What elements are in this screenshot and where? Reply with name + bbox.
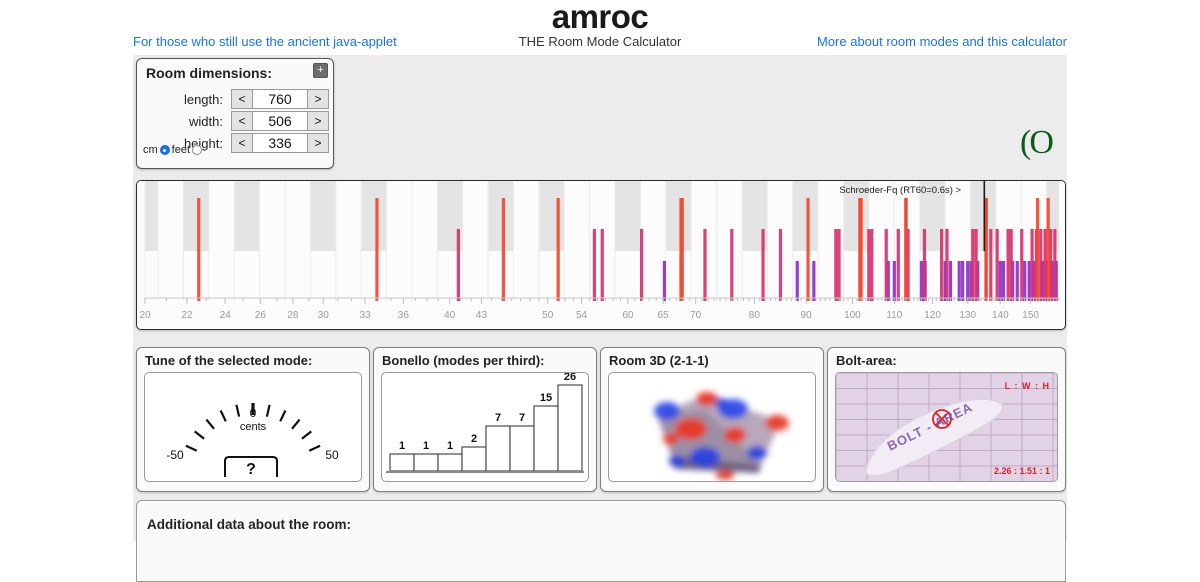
unit-feet-label: feet	[172, 144, 190, 156]
svg-text:15: 15	[540, 392, 552, 404]
svg-text:2.26 : 1.51 : 1: 2.26 : 1.51 : 1	[994, 466, 1050, 476]
svg-text:2: 2	[471, 433, 477, 445]
additional-data-panel: Additional data about the room:	[136, 500, 1066, 582]
room3d-panel-title: Room 3D (2-1-1)	[609, 353, 709, 368]
svg-text:0: 0	[250, 406, 257, 420]
svg-text:50: 50	[325, 448, 339, 462]
height-value[interactable]: 336	[253, 133, 307, 153]
length-decrement-button[interactable]: <	[231, 89, 253, 109]
svg-text:110: 110	[886, 310, 902, 321]
length-value[interactable]: 760	[253, 89, 307, 109]
svg-text:36: 36	[398, 310, 410, 321]
svg-text:90: 90	[801, 310, 813, 321]
length-increment-button[interactable]: >	[307, 89, 329, 109]
width-value[interactable]: 506	[253, 111, 307, 131]
height-decrement-button[interactable]: <	[231, 133, 253, 153]
tune-meter[interactable]: 0cents-5050?	[144, 372, 362, 482]
bolt-area-panel-title: Bolt-area:	[836, 353, 897, 368]
tune-panel: Tune of the selected mode: 0cents-5050?	[136, 347, 370, 492]
svg-text:43: 43	[476, 310, 488, 321]
dimension-row-length: length: < 760 >	[137, 89, 333, 111]
unit-selector: cm feet	[143, 144, 202, 156]
page-header: amroc THE Room Mode Calculator For those…	[0, 0, 1200, 55]
svg-text:1: 1	[447, 440, 453, 452]
mode-plot-area[interactable]	[137, 181, 1065, 301]
svg-text:54: 54	[576, 310, 588, 321]
room-dimensions-panel: Room dimensions: + length: < 760 > width…	[136, 58, 334, 169]
svg-text:40: 40	[444, 310, 456, 321]
java-applet-link[interactable]: For those who still use the ancient java…	[133, 34, 397, 49]
svg-text:130: 130	[959, 310, 976, 321]
unit-feet-radio[interactable]	[192, 145, 202, 155]
svg-text:140: 140	[992, 310, 1009, 321]
svg-text:33: 33	[360, 310, 372, 321]
frequency-axis: 2022242628303336404350546065708090100110…	[137, 294, 1065, 327]
bonello-panel: Bonello (modes per third): 1112771526	[373, 347, 597, 492]
width-increment-button[interactable]: >	[307, 111, 329, 131]
svg-text:L : W : H: L : W : H	[1005, 381, 1050, 391]
unit-cm-label: cm	[143, 144, 158, 156]
svg-text:1: 1	[399, 440, 405, 452]
svg-text:-50: -50	[166, 448, 184, 462]
page-title: amroc	[0, 0, 1200, 36]
room-mode-chart[interactable]: Schroeder-Fq (RT60=0.6s) > 2022242628303…	[136, 180, 1066, 330]
unit-cm-radio[interactable]	[160, 145, 170, 155]
svg-text:120: 120	[924, 310, 941, 321]
svg-text:?: ?	[246, 461, 256, 478]
svg-text:26: 26	[255, 310, 267, 321]
svg-text:150: 150	[1022, 310, 1039, 321]
height-increment-button[interactable]: >	[307, 133, 329, 153]
length-label: length:	[155, 92, 223, 107]
svg-text:1: 1	[423, 440, 429, 452]
svg-text:80: 80	[749, 310, 761, 321]
expand-icon[interactable]: +	[313, 63, 328, 78]
svg-text:60: 60	[622, 310, 634, 321]
width-decrement-button[interactable]: <	[231, 111, 253, 131]
svg-text:cents: cents	[240, 421, 267, 433]
svg-text:100: 100	[844, 310, 861, 321]
svg-text:7: 7	[519, 412, 525, 424]
room-dimensions-title: Room dimensions:	[146, 65, 272, 81]
bolt-area-chart[interactable]: BOLT - AREAL : W : H2.26 : 1.51 : 1	[835, 372, 1058, 482]
svg-text:70: 70	[690, 310, 702, 321]
more-info-link[interactable]: More about room modes and this calculato…	[817, 34, 1067, 49]
tune-panel-title: Tune of the selected mode:	[145, 353, 312, 368]
logo-glyph: (O	[1020, 124, 1052, 162]
app-root: amroc THE Room Mode Calculator For those…	[0, 0, 1200, 541]
bonello-chart[interactable]: 1112771526	[381, 372, 589, 482]
svg-text:50: 50	[542, 310, 554, 321]
svg-text:22: 22	[181, 310, 193, 321]
svg-text:28: 28	[287, 310, 299, 321]
dimension-row-width: width: < 506 >	[137, 111, 333, 133]
room3d-viewport[interactable]	[608, 372, 816, 482]
room3d-panel: Room 3D (2-1-1)	[600, 347, 824, 492]
svg-text:30: 30	[318, 310, 330, 321]
width-label: width:	[155, 114, 223, 129]
schroeder-frequency-label: Schroeder-Fq (RT60=0.6s) >	[839, 185, 961, 196]
svg-text:65: 65	[658, 310, 670, 321]
mode-bars[interactable]	[137, 181, 1065, 301]
svg-text:26: 26	[564, 373, 576, 383]
bolt-area-panel: Bolt-area: BOLT - AREAL : W : H2.26 : 1.…	[827, 347, 1066, 492]
bonello-panel-title: Bonello (modes per third):	[382, 353, 545, 368]
svg-text:24: 24	[220, 310, 232, 321]
additional-data-title: Additional data about the room:	[147, 517, 351, 532]
svg-text:7: 7	[495, 412, 501, 424]
svg-text:20: 20	[139, 310, 151, 321]
